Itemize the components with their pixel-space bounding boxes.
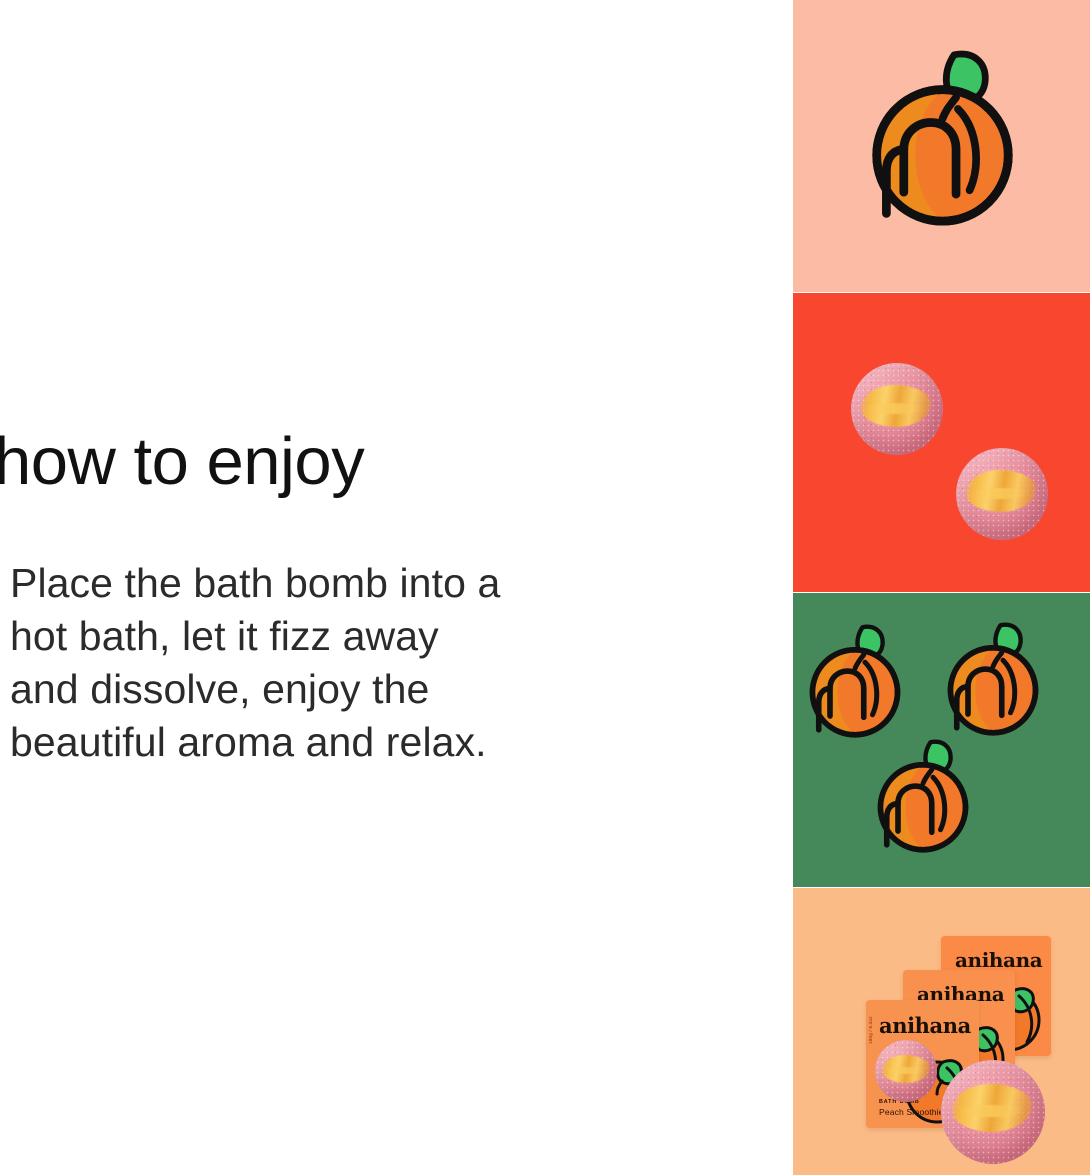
instruction-line: and dissolve, enjoy the <box>10 663 670 716</box>
peach-logo-icon <box>873 738 973 854</box>
panel-peach-logo <box>793 0 1090 292</box>
peach-logo-icon <box>865 49 1020 227</box>
instructions-paragraph: Place the bath bomb into a hot bath, let… <box>10 557 670 769</box>
peach-logo-icon <box>943 621 1043 737</box>
page-title: how to enjoy <box>0 428 364 495</box>
instruction-line: Place the bath bomb into a <box>10 557 670 610</box>
text-pane: how to enjoy Place the bath bomb into a … <box>0 0 790 1175</box>
instruction-line: beautiful aroma and relax. <box>10 716 670 769</box>
brand-wordmark: anihana <box>955 948 1042 972</box>
bath-bomb-hero <box>941 1060 1045 1164</box>
bath-bomb <box>956 448 1048 540</box>
instruction-line: hot bath, let it fizz away <box>10 610 670 663</box>
panel-bath-bombs <box>793 293 1090 592</box>
panel-peach-pattern <box>793 593 1090 887</box>
product-variant-label: Peach Smoothie <box>879 1107 943 1117</box>
bath-bomb <box>875 1040 937 1102</box>
image-gallery-column: anihana anihana <box>793 0 1090 1175</box>
peach-logo-icon <box>805 623 905 739</box>
brand-wordmark: anihana <box>879 1013 971 1038</box>
bath-bomb <box>851 363 943 455</box>
net-weight-label: 180g / 6.3oz <box>868 1016 873 1044</box>
panel-packaging: anihana anihana <box>793 888 1090 1175</box>
